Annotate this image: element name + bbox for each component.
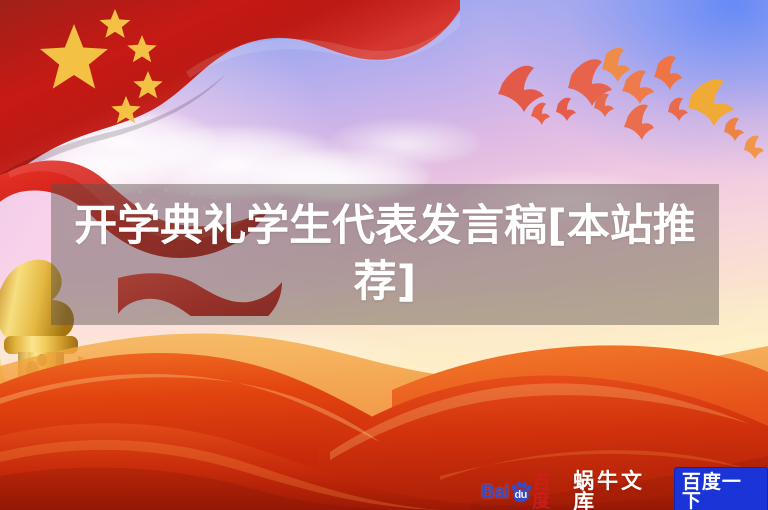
watermark-bar: Bai du 百度 蜗牛文库 百度一下: [481, 477, 768, 507]
bird: [654, 56, 682, 90]
title-overlay-panel: 开学典礼学生代表发言稿[本站推荐]: [51, 184, 719, 325]
baidu-paw-icon: du: [510, 481, 531, 503]
birds-svg: [480, 46, 768, 166]
site-brand-label: 蜗牛文库: [573, 471, 667, 510]
baidu-logo[interactable]: Bai du 百度: [481, 474, 566, 510]
bird: [668, 98, 688, 121]
baidu-logo-chinese: 百度: [532, 474, 566, 510]
bird: [724, 118, 744, 141]
bird: [622, 70, 654, 104]
bird-flock: [480, 46, 768, 166]
bird: [556, 98, 576, 121]
baidu-logo-du: du: [514, 490, 526, 503]
bird: [602, 48, 630, 82]
bird: [531, 103, 550, 125]
bird: [624, 104, 654, 140]
bird: [744, 136, 764, 159]
banner-image: 开学典礼学生代表发言稿[本站推荐] Bai du 百度 蜗牛文库 百度一下: [0, 0, 768, 510]
bird: [688, 79, 734, 126]
baidu-search-button[interactable]: 百度一下: [674, 467, 768, 510]
page-title: 开学典礼学生代表发言稿[本站推荐]: [65, 199, 705, 311]
baidu-logo-bai: Bai: [481, 483, 509, 502]
